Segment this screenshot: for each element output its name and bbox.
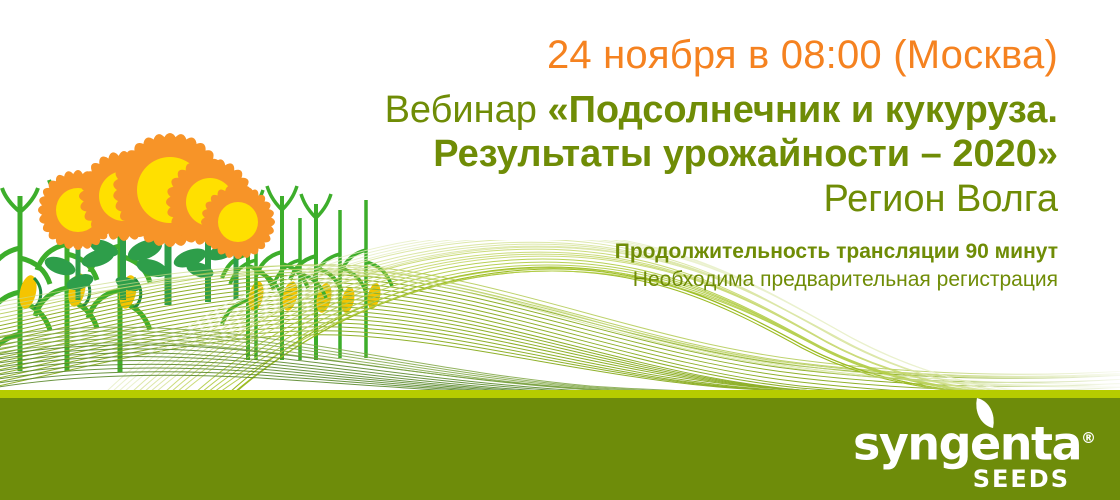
sunflower-icon	[38, 132, 276, 259]
event-date-time: 24 ноября в 08:00 (Москва)	[258, 30, 1058, 80]
registration-note: Необходима предварительная регистрация	[258, 266, 1058, 294]
notes-block: Продолжительность трансляции 90 минут Не…	[258, 238, 1058, 294]
webinar-title-line1: Вебинар «Подсолнечник и кукуруза.	[258, 88, 1058, 132]
webinar-title-prefix: Вебинар	[385, 89, 548, 131]
region-label: Регион Волга	[258, 176, 1058, 222]
syngenta-wordmark-text: syngenta	[853, 416, 1081, 470]
webinar-title-line2: Результаты урожайности – 2020»	[258, 132, 1058, 176]
banner-text-block: 24 ноября в 08:00 (Москва) Вебинар «Подс…	[258, 30, 1058, 294]
syngenta-wordmark: syngenta®	[853, 415, 1096, 466]
registered-trademark-icon: ®	[1081, 429, 1096, 447]
accent-bar-light	[0, 390, 1120, 398]
promo-banner: 24 ноября в 08:00 (Москва) Вебинар «Подс…	[0, 0, 1120, 500]
syngenta-logo: syngenta® SEEDS	[853, 415, 1096, 492]
webinar-title-quoted-1: «Подсолнечник и кукуруза.	[547, 89, 1058, 131]
duration-note: Продолжительность трансляции 90 минут	[258, 238, 1058, 266]
